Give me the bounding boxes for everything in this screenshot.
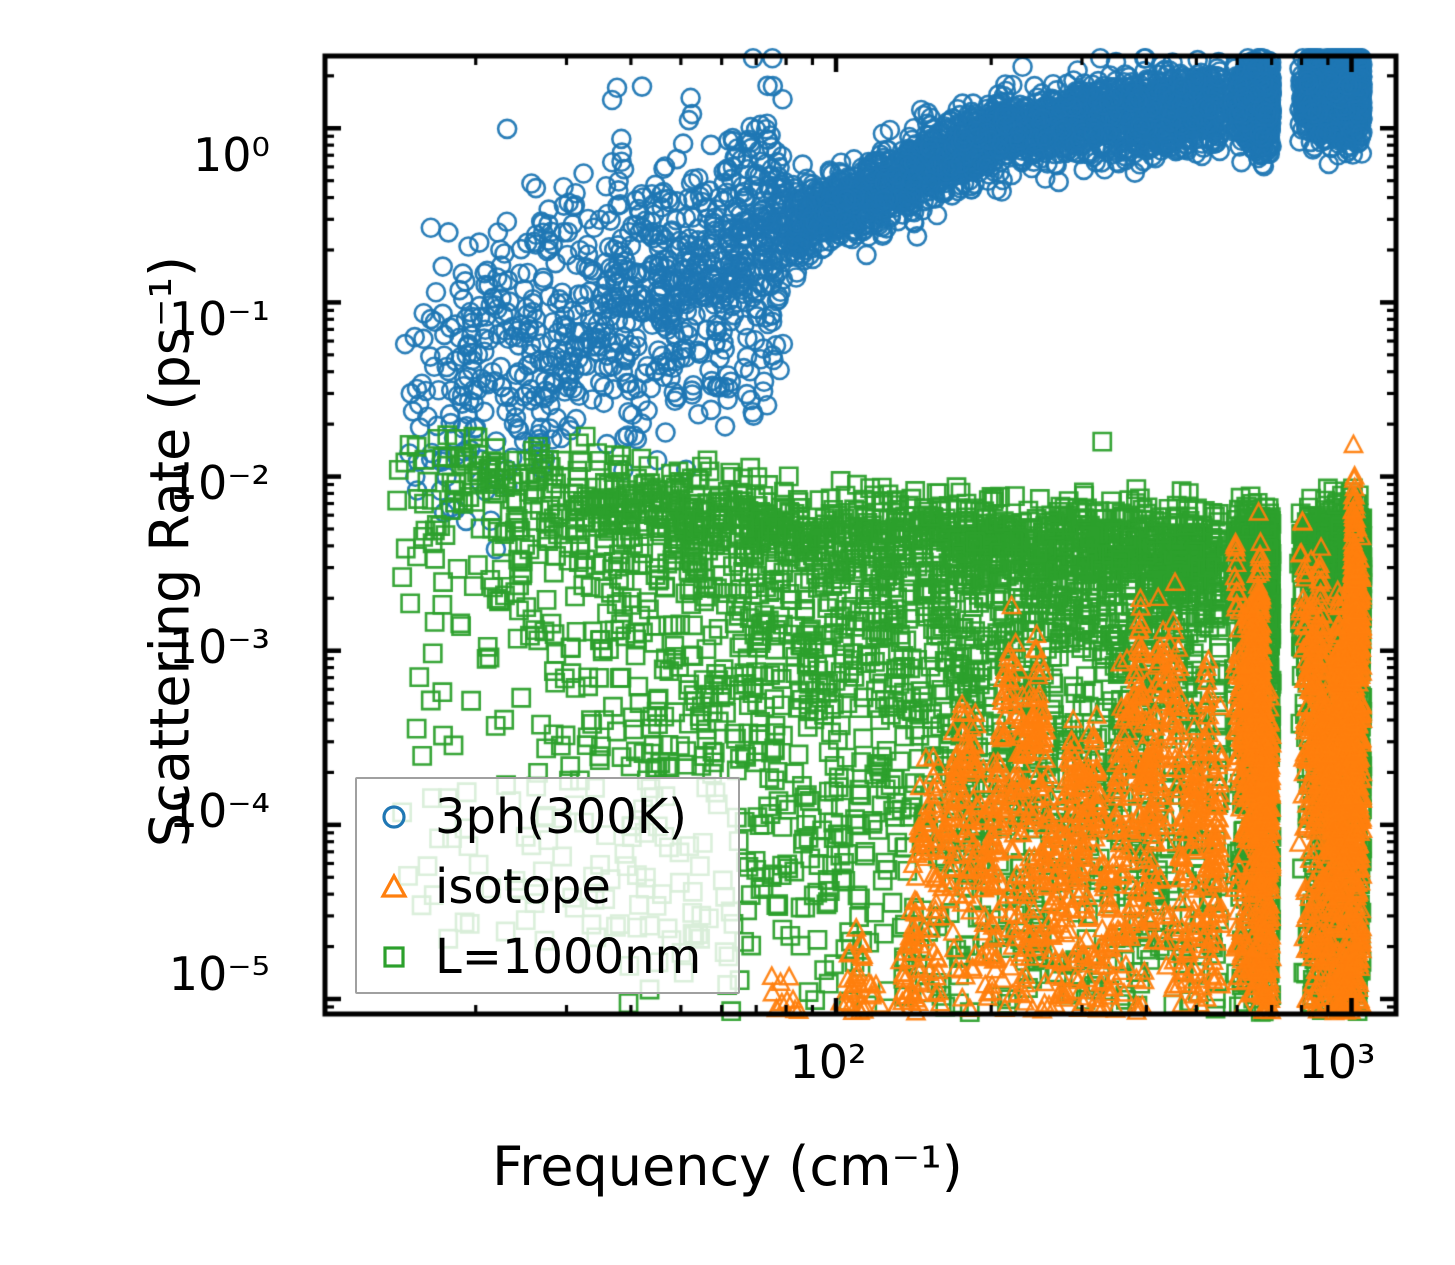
- y-tick-label-1: 10⁻¹: [40, 292, 270, 346]
- y-tick-label-5: 10⁻⁵: [40, 947, 270, 1001]
- legend-label-boundary: L=1000nm: [423, 929, 701, 985]
- y-tick-label-0: 10⁰: [40, 128, 270, 182]
- legend-item-isotope[interactable]: isotope: [365, 857, 611, 917]
- figure: 10⁰ 10⁻¹ 10⁻² 10⁻³ 10⁻⁴ 10⁻⁵ 10² 10³ Fre…: [0, 0, 1455, 1265]
- legend-item-boundary[interactable]: L=1000nm: [365, 927, 701, 987]
- legend-label-isotope: isotope: [423, 859, 611, 915]
- x-axis-label: Frequency (cm⁻¹): [0, 1135, 1455, 1198]
- legend-label-3ph: 3ph(300K): [423, 789, 687, 845]
- square-marker-icon: [365, 942, 423, 972]
- legend: 3ph(300K) isotope L=1000nm: [355, 777, 740, 994]
- y-tick-label-3: 10⁻³: [40, 620, 270, 674]
- legend-item-3ph[interactable]: 3ph(300K): [365, 787, 687, 847]
- triangle-marker-icon: [365, 872, 423, 902]
- y-tick-label-4: 10⁻⁴: [40, 784, 270, 838]
- circle-marker-icon: [365, 802, 423, 832]
- y-tick-label-2: 10⁻²: [40, 456, 270, 510]
- x-tick-label-1: 10³: [1237, 1035, 1437, 1089]
- x-tick-label-0: 10²: [728, 1035, 928, 1089]
